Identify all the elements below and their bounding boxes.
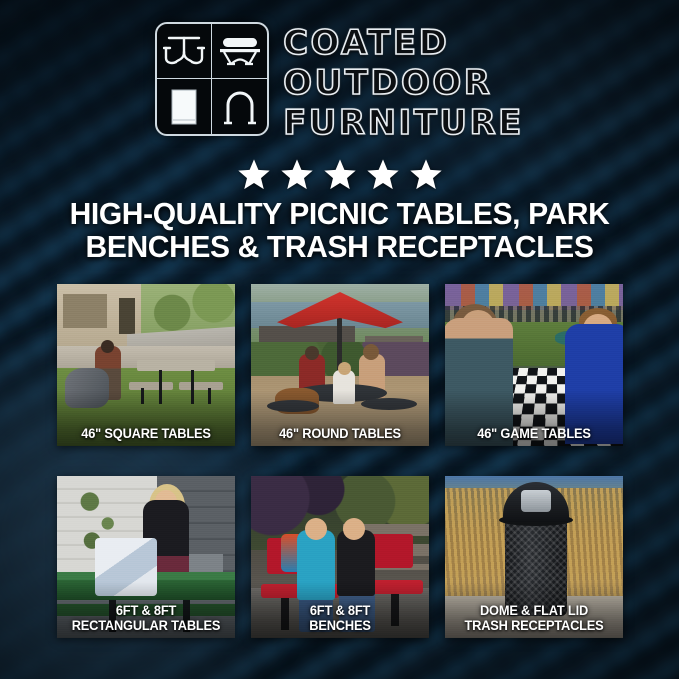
brand-name-line-1: COATED bbox=[283, 24, 524, 62]
product-caption-trash-receptacles: DOME & FLAT LID TRASH RECEPTACLES bbox=[451, 603, 616, 633]
logo-icon-grid bbox=[155, 22, 269, 136]
product-tile-game-tables[interactable]: 46" GAME TABLES bbox=[445, 284, 623, 446]
trash-receptacle-icon bbox=[157, 79, 212, 134]
product-photo-round-tables bbox=[251, 284, 429, 446]
caption-line-1: 46" SQUARE TABLES bbox=[63, 426, 228, 441]
star-icon bbox=[237, 158, 271, 191]
product-tile-trash-receptacles[interactable]: DOME & FLAT LID TRASH RECEPTACLES bbox=[445, 476, 623, 638]
brand-name-line-3: FURNITURE bbox=[283, 104, 524, 142]
product-caption-square-tables: 46" SQUARE TABLES bbox=[63, 426, 228, 441]
product-tile-round-tables[interactable]: 46" ROUND TABLES bbox=[251, 284, 429, 446]
brand-name: COATED OUTDOOR FURNITURE bbox=[283, 22, 524, 142]
headline-line-1: HIGH-QUALITY PICNIC TABLES, PARK bbox=[70, 197, 610, 231]
caption-line-1: 6FT & 8FT bbox=[257, 603, 422, 618]
product-grid: 46" SQUARE TABLES 46" bbox=[57, 284, 623, 638]
poster-content: COATED OUTDOOR FURNITURE HIGH-QUALITY PI… bbox=[0, 0, 679, 679]
headline-line-2: BENCHES & TRASH RECEPTACLES bbox=[31, 231, 649, 264]
product-photo-game-tables bbox=[445, 284, 623, 446]
star-rating bbox=[0, 158, 679, 191]
caption-line-1: 6FT & 8FT bbox=[63, 603, 228, 618]
picnic-table-icon bbox=[157, 24, 212, 79]
caption-line-1: DOME & FLAT LID bbox=[451, 603, 616, 618]
brand-logo: COATED OUTDOOR FURNITURE bbox=[0, 22, 679, 142]
star-icon bbox=[280, 158, 314, 191]
caption-line-2: TRASH RECEPTACLES bbox=[451, 618, 616, 633]
bike-rack-icon bbox=[212, 79, 267, 134]
star-icon bbox=[366, 158, 400, 191]
product-tile-benches[interactable]: 6FT & 8FT BENCHES bbox=[251, 476, 429, 638]
caption-line-1: 46" ROUND TABLES bbox=[257, 426, 422, 441]
promotional-poster: COATED OUTDOOR FURNITURE HIGH-QUALITY PI… bbox=[0, 0, 679, 679]
product-caption-benches: 6FT & 8FT BENCHES bbox=[257, 603, 422, 633]
park-bench-icon bbox=[212, 24, 267, 79]
product-photo-square-tables bbox=[57, 284, 235, 446]
product-caption-game-tables: 46" GAME TABLES bbox=[451, 426, 616, 441]
product-tile-rectangular-tables[interactable]: 6FT & 8FT RECTANGULAR TABLES bbox=[57, 476, 235, 638]
brand-name-line-2: OUTDOOR bbox=[283, 64, 524, 102]
star-icon bbox=[409, 158, 443, 191]
star-icon bbox=[323, 158, 357, 191]
product-tile-square-tables[interactable]: 46" SQUARE TABLES bbox=[57, 284, 235, 446]
caption-line-1: 46" GAME TABLES bbox=[451, 426, 616, 441]
product-caption-round-tables: 46" ROUND TABLES bbox=[257, 426, 422, 441]
caption-line-2: RECTANGULAR TABLES bbox=[63, 618, 228, 633]
headline: HIGH-QUALITY PICNIC TABLES, PARK BENCHES… bbox=[31, 198, 649, 264]
product-caption-rectangular-tables: 6FT & 8FT RECTANGULAR TABLES bbox=[63, 603, 228, 633]
caption-line-2: BENCHES bbox=[257, 618, 422, 633]
